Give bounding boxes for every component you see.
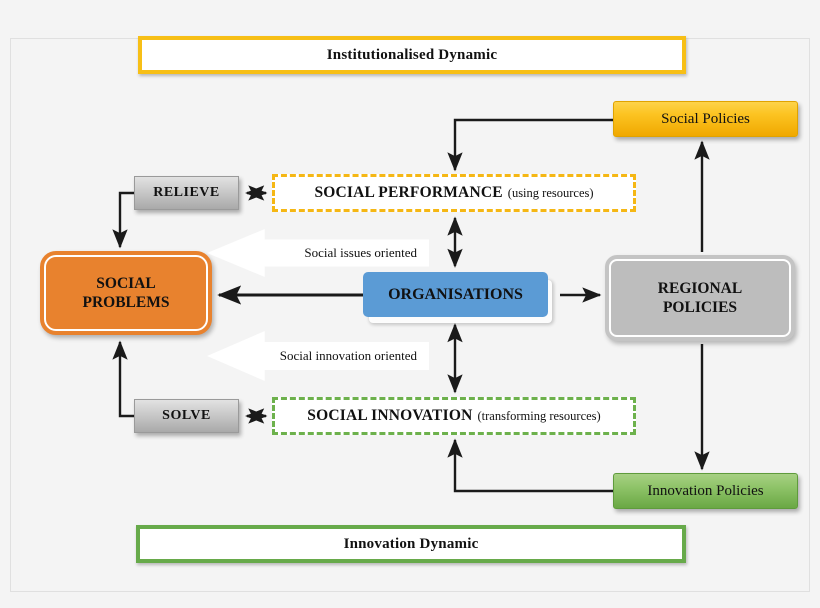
node-innovation-policies-label: Innovation Policies — [647, 483, 763, 500]
node-regional-policies-label-line2: POLICIES — [658, 298, 742, 317]
diagram-canvas: Institutionalised Dynamic Innovation Dyn… — [0, 0, 820, 608]
node-social-innovation[interactable]: SOCIAL INNOVATION (transforming resource… — [272, 397, 636, 435]
node-relieve[interactable]: RELIEVE — [134, 176, 239, 210]
banner-institutionalised-dynamic-label: Institutionalised Dynamic — [327, 47, 497, 64]
node-innovation-policies[interactable]: Innovation Policies — [613, 473, 798, 509]
node-social-policies-label: Social Policies — [661, 111, 750, 128]
banner-institutionalised-dynamic: Institutionalised Dynamic — [138, 36, 686, 74]
node-relieve-label: RELIEVE — [153, 185, 220, 201]
node-social-performance-sublabel: (using resources) — [508, 186, 594, 201]
node-organisations[interactable]: ORGANISATIONS — [363, 272, 548, 317]
node-social-problems-labels: SOCIAL PROBLEMS — [83, 274, 170, 313]
node-social-performance-label: SOCIAL PERFORMANCE — [314, 184, 502, 202]
chevron-social-innovation-oriented-label: Social innovation oriented — [280, 348, 417, 364]
node-solve-label: SOLVE — [162, 408, 211, 424]
banner-innovation-dynamic-label: Innovation Dynamic — [344, 536, 479, 553]
chevron-social-issues-oriented-label: Social issues oriented — [304, 245, 417, 261]
node-regional-policies-label-line1: REGIONAL — [658, 279, 742, 298]
node-social-problems-label-line1: SOCIAL — [83, 274, 170, 293]
node-social-performance[interactable]: SOCIAL PERFORMANCE (using resources) — [272, 174, 636, 212]
node-social-problems[interactable]: SOCIAL PROBLEMS — [40, 251, 212, 335]
node-social-innovation-sublabel: (transforming resources) — [477, 409, 600, 424]
node-solve[interactable]: SOLVE — [134, 399, 239, 433]
node-regional-policies[interactable]: REGIONAL POLICIES — [605, 255, 795, 341]
node-social-problems-label-line2: PROBLEMS — [83, 293, 170, 312]
node-organisations-label: ORGANISATIONS — [388, 286, 523, 304]
banner-innovation-dynamic: Innovation Dynamic — [136, 525, 686, 563]
node-social-innovation-label: SOCIAL INNOVATION — [307, 407, 472, 425]
node-social-policies[interactable]: Social Policies — [613, 101, 798, 137]
node-regional-policies-labels: REGIONAL POLICIES — [658, 279, 742, 318]
